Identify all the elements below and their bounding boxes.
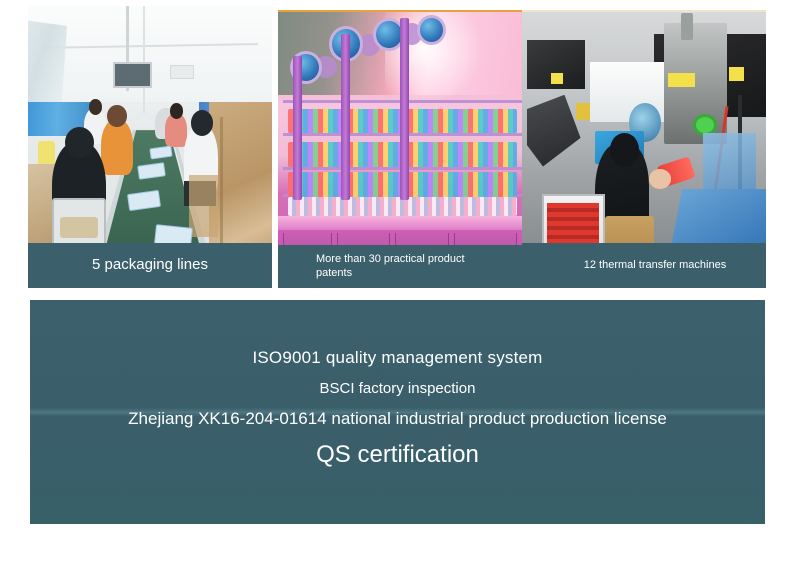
credential-license: Zhejiang XK16-204-01614 national industr… [128, 409, 667, 429]
photo-caption-thermal-transfer: 12 thermal transfer machines [522, 243, 766, 288]
credential-iso9001: ISO9001 quality management system [252, 348, 542, 368]
credential-qs: QS certification [316, 441, 479, 469]
credential-bsci: BSCI factory inspection [320, 380, 476, 397]
credentials-panel: ISO9001 quality management system BSCI f… [30, 300, 765, 524]
photo-card-product-showroom[interactable]: More than 30 practical product patents [278, 10, 522, 288]
photo-caption-product-showroom: More than 30 practical product patents [278, 245, 522, 288]
factory-credentials-page: 5 packaging lines More than 30 practic [0, 0, 790, 566]
photo-caption-packaging-line: 5 packaging lines [28, 243, 272, 288]
photo-card-packaging-line[interactable]: 5 packaging lines [28, 6, 272, 288]
photo-card-thermal-transfer[interactable]: 12 thermal transfer machines [522, 10, 766, 288]
photo-gallery-row: 5 packaging lines More than 30 practic [0, 0, 790, 292]
